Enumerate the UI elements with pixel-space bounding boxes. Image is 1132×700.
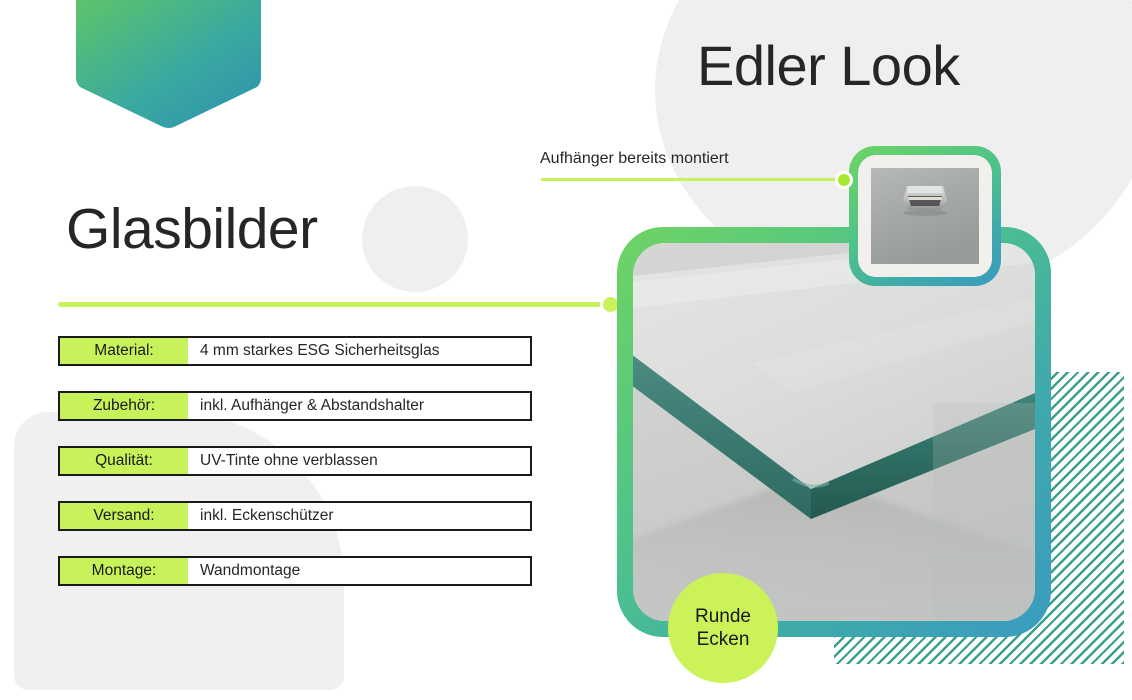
product-image-frame [617,227,1051,637]
spec-label: Qualität: [60,448,188,474]
brand-shield-logo [76,0,261,130]
spec-value: inkl. Eckenschützer [188,503,530,529]
table-row: Versand: inkl. Eckenschützer [58,501,532,531]
decorative-circle-behind-title [362,186,468,292]
table-row: Material: 4 mm starkes ESG Sicherheitsgl… [58,336,532,366]
page-heading-right: Edler Look [697,33,960,98]
hanger-inset-white-mat [858,155,992,277]
spec-label: Versand: [60,503,188,529]
spec-label: Material: [60,338,188,364]
status-badge: Runde Ecken [668,573,778,683]
callout-label: Aufhänger bereits montiert [540,150,729,168]
spec-value: UV-Tinte ohne verblassen [188,448,530,474]
spec-label: Zubehör: [60,393,188,419]
title-accent-line [58,302,605,307]
table-row: Montage: Wandmontage [58,556,532,586]
spec-value: Wandmontage [188,558,530,584]
badge-line-1: Runde [695,605,751,628]
page-title: Glasbilder [66,198,318,261]
badge-line-2: Ecken [697,628,750,651]
table-row: Qualität: UV-Tinte ohne verblassen [58,446,532,476]
hanger-photo [871,168,979,264]
spec-table: Material: 4 mm starkes ESG Sicherheitsgl… [58,336,532,611]
spec-label: Montage: [60,558,188,584]
infographic-canvas: Edler Look Aufhänger bereits montiert Gl… [0,0,1132,700]
table-row: Zubehör: inkl. Aufhänger & Abstandshalte… [58,391,532,421]
product-photo-glass-corner [633,243,1035,621]
spec-value: inkl. Aufhänger & Abstandshalter [188,393,530,419]
callout-connector-line [541,178,855,181]
spec-value: 4 mm starkes ESG Sicherheitsglas [188,338,530,364]
callout-endpoint-dot [835,171,853,189]
hanger-inset-frame [849,146,1001,286]
